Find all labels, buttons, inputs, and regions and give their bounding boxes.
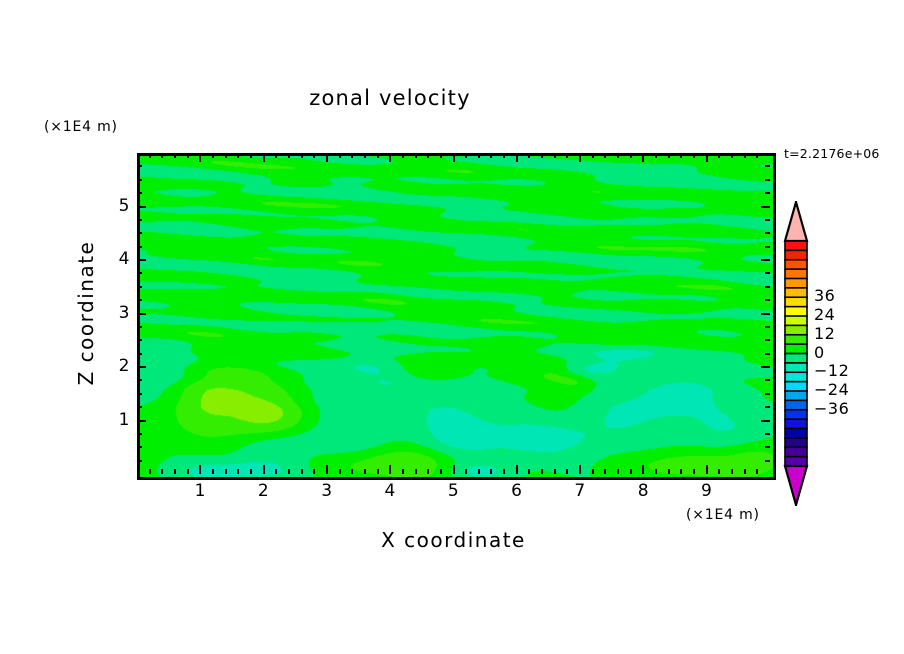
x-axis-minor-tick-top — [301, 153, 303, 158]
colorbar-ticklabel: 36 — [814, 286, 835, 305]
x-axis-minor-tick — [440, 469, 442, 474]
y-axis-minor-tick-right — [765, 272, 770, 274]
x-axis-minor-tick — [301, 469, 303, 474]
x-axis-minor-tick — [187, 469, 189, 474]
x-axis-minor-tick — [617, 469, 619, 474]
x-axis-minor-tick-top — [415, 153, 417, 158]
y-axis-minor-tick-right — [765, 232, 770, 234]
colorbar-ticklabel: 24 — [814, 305, 835, 324]
colorbar-band — [785, 269, 807, 279]
x-axis-minor-tick-top — [718, 153, 720, 158]
y-axis-ticklabel: 4 — [90, 249, 130, 269]
y-axis-minor-tick-right — [765, 379, 770, 381]
x-axis-minor-tick-top — [402, 153, 404, 158]
colorbar-band — [785, 447, 807, 457]
x-axis-major-tick-top — [389, 153, 391, 162]
x-axis-minor-tick — [630, 469, 632, 474]
x-axis-minor-tick — [250, 469, 252, 474]
colorbar-band — [785, 391, 807, 401]
y-axis-ticklabel: 3 — [90, 303, 130, 323]
x-axis-minor-tick — [288, 469, 290, 474]
x-axis-major-tick — [263, 465, 265, 474]
x-axis-minor-tick-top — [174, 153, 176, 158]
x-axis-major-tick — [389, 465, 391, 474]
contour-figure: zonal velocity (×1E4 m) (×1E4 m) X coord… — [0, 0, 904, 654]
x-axis-minor-tick-top — [149, 153, 151, 158]
x-axis-minor-tick — [465, 469, 467, 474]
y-axis-minor-tick — [137, 379, 142, 381]
x-axis-minor-tick — [427, 469, 429, 474]
x-axis-ticklabel: 4 — [370, 481, 410, 501]
colorbar-band — [785, 325, 807, 335]
x-axis-major-tick-top — [642, 153, 644, 162]
x-axis-minor-tick — [718, 469, 720, 474]
x-axis-title: X coordinate — [137, 528, 770, 552]
x-axis-ticklabel: 6 — [497, 481, 537, 501]
colorbar-band — [785, 297, 807, 307]
x-axis-minor-tick-top — [225, 153, 227, 158]
x-axis-minor-tick-top — [288, 153, 290, 158]
x-axis-minor-tick-top — [756, 153, 758, 158]
y-axis-major-tick-right — [761, 206, 770, 208]
x-axis-minor-tick — [478, 469, 480, 474]
x-axis-minor-tick-top — [680, 153, 682, 158]
y-axis-minor-tick-right — [765, 219, 770, 221]
x-axis-minor-tick — [490, 469, 492, 474]
x-axis-minor-tick — [655, 469, 657, 474]
z-axis-unit-label: (×1E4 m) — [44, 119, 118, 135]
x-axis-minor-tick — [212, 469, 214, 474]
y-axis-minor-tick — [137, 232, 142, 234]
x-axis-minor-tick-top — [693, 153, 695, 158]
x-axis-minor-tick — [566, 469, 568, 474]
x-axis-minor-tick — [377, 469, 379, 474]
x-axis-minor-tick-top — [237, 153, 239, 158]
colorbar-band — [785, 344, 807, 354]
contour-field-canvas — [140, 156, 773, 477]
page-title: zonal velocity — [0, 86, 780, 110]
x-axis-major-tick — [516, 465, 518, 474]
x-axis-minor-tick-top — [541, 153, 543, 158]
x-axis-minor-tick-top — [630, 153, 632, 158]
colorbar-swatches — [781, 201, 811, 506]
y-axis-minor-tick — [137, 299, 142, 301]
y-axis-minor-tick-right — [765, 433, 770, 435]
y-axis-minor-tick — [137, 393, 142, 395]
x-axis-minor-tick — [313, 469, 315, 474]
y-axis-major-tick-right — [761, 366, 770, 368]
x-axis-minor-tick — [756, 469, 758, 474]
colorbar-band — [785, 279, 807, 289]
x-axis-minor-tick-top — [554, 153, 556, 158]
y-axis-minor-tick — [137, 406, 142, 408]
x-axis-minor-tick — [149, 469, 151, 474]
colorbar-band — [785, 335, 807, 345]
timestamp-annotation: t=2.2176e+06 — [784, 146, 880, 161]
y-axis-minor-tick-right — [765, 286, 770, 288]
colorbar-band — [785, 354, 807, 364]
x-axis-minor-tick-top — [339, 153, 341, 158]
x-axis-minor-tick-top — [604, 153, 606, 158]
y-axis-minor-tick — [137, 433, 142, 435]
y-axis-major-tick-right — [761, 313, 770, 315]
y-axis-major-tick — [137, 313, 146, 315]
colorbar-band — [785, 241, 807, 251]
x-axis-major-tick-top — [706, 153, 708, 162]
y-axis-minor-tick-right — [765, 326, 770, 328]
x-axis-ticklabel: 7 — [560, 481, 600, 501]
colorbar-band — [785, 382, 807, 392]
y-axis-ticklabel: 1 — [90, 410, 130, 430]
x-axis-major-tick-top — [516, 153, 518, 162]
x-axis-minor-tick-top — [212, 153, 214, 158]
y-axis-minor-tick — [137, 326, 142, 328]
x-axis-minor-tick-top — [731, 153, 733, 158]
x-axis-minor-tick-top — [351, 153, 353, 158]
colorbar-band — [785, 410, 807, 420]
colorbar-band — [785, 260, 807, 270]
x-axis-minor-tick-top — [592, 153, 594, 158]
y-axis-major-tick-right — [761, 259, 770, 261]
y-axis-minor-tick-right — [765, 179, 770, 181]
x-axis-minor-tick — [174, 469, 176, 474]
x-axis-minor-tick — [415, 469, 417, 474]
colorbar-band — [785, 250, 807, 260]
colorbar-ticklabel: 0 — [814, 343, 825, 362]
x-axis-major-tick — [326, 465, 328, 474]
x-axis-major-tick-top — [453, 153, 455, 162]
y-axis-minor-tick — [137, 446, 142, 448]
x-axis-minor-tick-top — [250, 153, 252, 158]
colorbar-ticklabel: −24 — [814, 380, 849, 399]
y-axis-minor-tick — [137, 165, 142, 167]
x-axis-minor-tick-top — [617, 153, 619, 158]
colorbar-band — [785, 400, 807, 410]
y-axis-major-tick — [137, 206, 146, 208]
x-axis-major-tick — [642, 465, 644, 474]
y-axis-minor-tick-right — [765, 446, 770, 448]
x-axis-minor-tick — [731, 469, 733, 474]
y-axis-minor-tick-right — [765, 246, 770, 248]
y-axis-minor-tick-right — [765, 353, 770, 355]
x-axis-minor-tick — [237, 469, 239, 474]
x-axis-major-tick-top — [263, 153, 265, 162]
colorbar-band — [785, 429, 807, 439]
x-axis-minor-tick — [668, 469, 670, 474]
x-axis-minor-tick-top — [161, 153, 163, 158]
x-axis-major-tick — [453, 465, 455, 474]
x-axis-major-tick — [199, 465, 201, 474]
y-axis-minor-tick-right — [765, 299, 770, 301]
x-axis-minor-tick-top — [440, 153, 442, 158]
colorbar-band — [785, 316, 807, 326]
x-axis-ticklabel: 2 — [244, 481, 284, 501]
contour-plot-area — [137, 153, 776, 480]
x-axis-minor-tick-top — [503, 153, 505, 158]
x-axis-major-tick-top — [579, 153, 581, 162]
y-axis-minor-tick — [137, 460, 142, 462]
x-axis-minor-tick — [693, 469, 695, 474]
x-axis-minor-tick — [275, 469, 277, 474]
y-axis-minor-tick-right — [765, 393, 770, 395]
x-axis-minor-tick — [503, 469, 505, 474]
y-axis-ticklabel: 2 — [90, 356, 130, 376]
colorbar-under-cap — [785, 466, 807, 505]
x-axis-minor-tick — [528, 469, 530, 474]
colorbar-band — [785, 438, 807, 448]
x-axis-minor-tick-top — [528, 153, 530, 158]
x-axis-ticklabel: 9 — [687, 481, 727, 501]
y-axis-minor-tick-right — [765, 406, 770, 408]
colorbar-band — [785, 288, 807, 298]
x-axis-minor-tick-top — [187, 153, 189, 158]
colorbar-band — [785, 363, 807, 373]
y-axis-minor-tick — [137, 353, 142, 355]
x-axis-minor-tick — [161, 469, 163, 474]
x-axis-major-tick — [579, 465, 581, 474]
y-axis-major-tick — [137, 366, 146, 368]
x-axis-minor-tick — [351, 469, 353, 474]
colorbar — [781, 201, 811, 506]
x-axis-minor-tick-top — [465, 153, 467, 158]
x-axis-ticklabel: 1 — [180, 481, 220, 501]
y-axis-major-tick — [137, 259, 146, 261]
y-axis-minor-tick-right — [765, 460, 770, 462]
x-axis-unit-label: (×1E4 m) — [686, 507, 760, 523]
colorbar-ticklabel: −12 — [814, 361, 849, 380]
x-axis-minor-tick-top — [668, 153, 670, 158]
x-axis-minor-tick — [364, 469, 366, 474]
x-axis-minor-tick-top — [655, 153, 657, 158]
x-axis-major-tick — [706, 465, 708, 474]
x-axis-minor-tick — [339, 469, 341, 474]
x-axis-minor-tick — [225, 469, 227, 474]
x-axis-minor-tick — [604, 469, 606, 474]
y-axis-minor-tick-right — [765, 165, 770, 167]
y-axis-minor-tick — [137, 339, 142, 341]
y-axis-minor-tick — [137, 286, 142, 288]
x-axis-minor-tick — [541, 469, 543, 474]
x-axis-minor-tick-top — [313, 153, 315, 158]
x-axis-minor-tick — [592, 469, 594, 474]
y-axis-minor-tick-right — [765, 192, 770, 194]
x-axis-minor-tick-top — [364, 153, 366, 158]
colorbar-over-cap — [785, 202, 807, 241]
colorbar-ticklabel: 12 — [814, 324, 835, 343]
x-axis-ticklabel: 3 — [307, 481, 347, 501]
x-axis-minor-tick-top — [478, 153, 480, 158]
y-axis-major-tick-right — [761, 420, 770, 422]
y-axis-minor-tick — [137, 246, 142, 248]
x-axis-ticklabel: 5 — [434, 481, 474, 501]
x-axis-minor-tick-top — [427, 153, 429, 158]
x-axis-minor-tick — [402, 469, 404, 474]
x-axis-minor-tick — [680, 469, 682, 474]
y-axis-minor-tick — [137, 272, 142, 274]
colorbar-band — [785, 372, 807, 382]
x-axis-minor-tick — [744, 469, 746, 474]
x-axis-minor-tick-top — [377, 153, 379, 158]
y-axis-minor-tick — [137, 179, 142, 181]
x-axis-major-tick-top — [326, 153, 328, 162]
x-axis-ticklabel: 8 — [623, 481, 663, 501]
x-axis-minor-tick-top — [275, 153, 277, 158]
colorbar-band — [785, 307, 807, 317]
colorbar-ticklabel: −36 — [814, 399, 849, 418]
x-axis-minor-tick-top — [490, 153, 492, 158]
x-axis-minor-tick-top — [744, 153, 746, 158]
y-axis-minor-tick — [137, 219, 142, 221]
x-axis-minor-tick — [554, 469, 556, 474]
y-axis-minor-tick — [137, 192, 142, 194]
colorbar-band — [785, 419, 807, 429]
x-axis-major-tick-top — [199, 153, 201, 162]
y-axis-minor-tick-right — [765, 339, 770, 341]
y-axis-ticklabel: 5 — [90, 196, 130, 216]
y-axis-major-tick — [137, 420, 146, 422]
x-axis-minor-tick-top — [566, 153, 568, 158]
